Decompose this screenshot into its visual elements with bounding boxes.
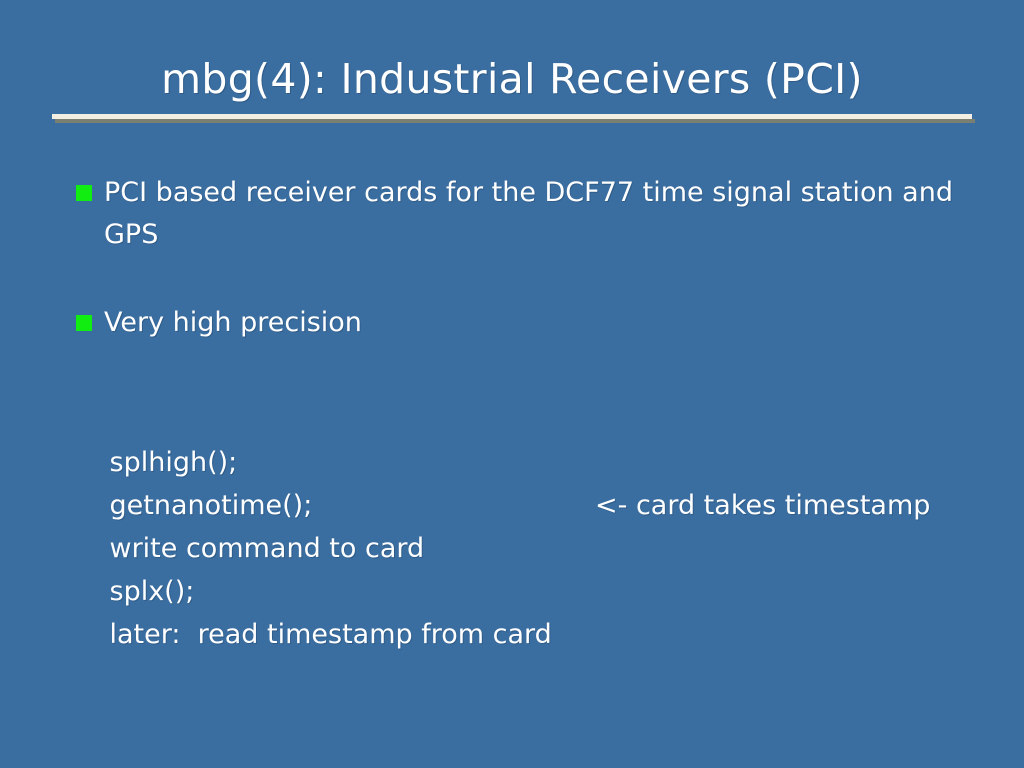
- bullet-item-label: Very high precision: [104, 302, 956, 344]
- code-line-annotation: <- card takes timestamp: [595, 484, 930, 527]
- code-line: splhigh();: [58, 398, 998, 441]
- page-title: mbg(4): Industrial Receivers (PCI): [52, 48, 972, 110]
- presentation-slide: mbg(4): Industrial Receivers (PCI) PCI b…: [0, 0, 1024, 768]
- code-line: write command to card <- card takes time…: [58, 484, 998, 527]
- code-line: later: read timestamp from card: [58, 570, 998, 613]
- square-bullet-icon: [76, 315, 92, 331]
- bullet-item-label: PCI based receiver cards for the DCF77 t…: [104, 172, 956, 256]
- code-line-text: later: read timestamp from card: [110, 619, 552, 650]
- code-block: splhigh(); getnanotime(); write command …: [58, 398, 998, 613]
- bullet-list: PCI based receiver cards for the DCF77 t…: [76, 172, 956, 344]
- slide-title-block: mbg(4): Industrial Receivers (PCI): [52, 48, 972, 126]
- list-item: PCI based receiver cards for the DCF77 t…: [76, 172, 956, 256]
- list-item: Very high precision: [76, 302, 956, 344]
- code-line: getnanotime();: [58, 441, 998, 484]
- code-line: splx();: [58, 527, 998, 570]
- square-bullet-icon: [76, 185, 92, 201]
- title-underline-shadow: [55, 119, 975, 123]
